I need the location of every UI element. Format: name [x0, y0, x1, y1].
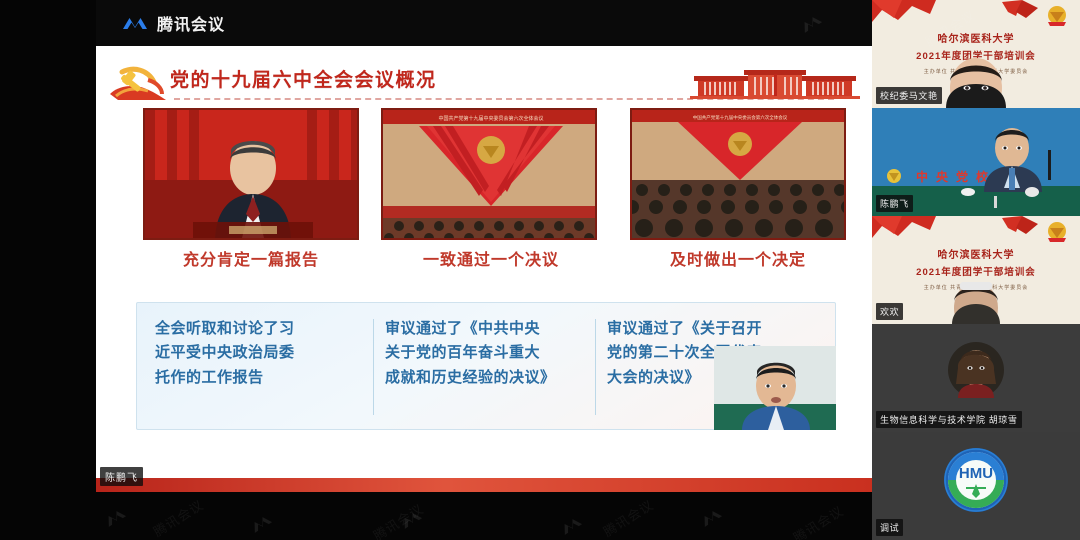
- participant-video-3: [872, 216, 1080, 324]
- participant-tile-3[interactable]: 哈尔滨医科大学 2021年度团学干部培训会 主办单位 共青团哈尔滨医科大学委员会…: [872, 216, 1080, 324]
- slide-header: 党的十九届六中全会会议概况: [96, 56, 872, 104]
- panel-line: 成就和历史经验的决议》: [385, 366, 603, 390]
- panel-line: 近平受中央政治局委: [155, 341, 373, 365]
- slide-photo-row: 中国共产党第十九届中央委员会第六次全体会议: [96, 108, 872, 246]
- presentation-slide: 党的十九届六中全会会议概况: [96, 46, 872, 492]
- svg-text:中国共产党第十九届中央委员会第六次全体会议: 中国共产党第十九届中央委员会第六次全体会议: [438, 115, 543, 122]
- participant-name-3: 欢欢: [876, 303, 903, 320]
- panel-line: 审议通过了《中共中央: [385, 317, 603, 341]
- speaker-video-overlay[interactable]: [714, 346, 836, 430]
- watermark-logo-icon: [248, 511, 275, 535]
- participant-name-2: 陈鹏飞: [876, 195, 913, 212]
- tencent-meeting-logo-icon: [122, 15, 148, 32]
- slide-caption-row: 充分肯定一篇报告 一致通过一个决议 及时做出一个决定: [96, 246, 872, 280]
- participant-rail[interactable]: 哈尔滨医科大学 2021年度团学干部培训会 主办单位 共青团哈尔滨医科大学委员会…: [872, 0, 1080, 540]
- watermark-logo-icon: [102, 505, 129, 529]
- watermark-logo-icon: [398, 507, 425, 531]
- panel-col-report: 全会听取和讨论了习 近平受中央政治局委 托作的工作报告: [155, 317, 373, 390]
- panel-line: 托作的工作报告: [155, 366, 373, 390]
- svg-text:党: 党: [956, 169, 968, 184]
- slide-title: 党的十九届六中全会会议概况: [170, 65, 437, 92]
- meeting-window: 腾讯会议 党的十九届六中全会会议概况: [0, 0, 1080, 540]
- caption-2: 一致通过一个决议: [371, 246, 611, 270]
- participant-tile-4[interactable]: 生物信息科学与技术学院 胡琼雪: [872, 324, 1080, 432]
- watermark-text: 腾讯会议: [789, 501, 847, 540]
- participant-tile-5[interactable]: HMU 调试: [872, 432, 1080, 540]
- svg-text:央: 央: [936, 169, 949, 184]
- shared-screen-nametag: 陈鹏飞: [100, 467, 143, 486]
- party-hammer-sickle-emblem-icon: [104, 60, 174, 104]
- svg-text:中国共产党第十九届中央委员会第六次全体会议: 中国共产党第十九届中央委员会第六次全体会议: [693, 114, 788, 121]
- caption-3: 及时做出一个决定: [618, 246, 858, 270]
- harbin-medical-university-logo-icon: HMU: [872, 432, 1080, 540]
- panel-line: 审议通过了《关于召开: [607, 317, 825, 341]
- watermark-text: 腾讯会议: [149, 495, 207, 540]
- shared-screen[interactable]: 党的十九届六中全会会议概况: [96, 46, 872, 492]
- photo-plenary-delegates: 中国共产党第十九届中央委员会第六次全体会议: [630, 108, 846, 240]
- watermark-logo-icon: [558, 513, 585, 537]
- great-hall-of-the-people-icon: [684, 60, 866, 102]
- watermark-text: 腾讯会议: [599, 495, 657, 540]
- participant-avatar-5: HMU: [872, 432, 1080, 540]
- photo-speaker-at-podium: [143, 108, 359, 240]
- panel-line: 关于党的百年奋斗重大: [385, 341, 603, 365]
- participant-name-4: 生物信息科学与技术学院 胡琼雪: [876, 411, 1022, 428]
- participant-name-1: 校纪委马文艳: [876, 87, 942, 104]
- shared-slide-thumbnail: 哈尔滨医科大学 2021年度团学干部培训会 主办单位 共青团哈尔滨医科大学委员会: [872, 216, 1080, 324]
- svg-text:HMU: HMU: [959, 465, 993, 482]
- participant-name-5: 调试: [876, 519, 903, 536]
- panel-col-resolution: 审议通过了《中共中央 关于党的百年奋斗重大 成就和历史经验的决议》: [385, 317, 603, 390]
- watermark-text: 腾讯会议: [369, 499, 427, 540]
- app-titlebar: 腾讯会议: [96, 0, 872, 46]
- watermark-logo-icon: [698, 505, 725, 529]
- participant-tile-2[interactable]: 中央党校 陈鹏飞: [872, 108, 1080, 216]
- caption-1: 充分肯定一篇报告: [131, 246, 371, 270]
- app-name: 腾讯会议: [157, 11, 225, 35]
- panel-divider-1: [373, 319, 374, 415]
- brand: 腾讯会议: [122, 11, 225, 35]
- photo-plenary-hall-stage: 中国共产党第十九届中央委员会第六次全体会议: [381, 108, 597, 240]
- panel-line: 全会听取和讨论了习: [155, 317, 373, 341]
- svg-text:中: 中: [916, 169, 928, 184]
- participant-tile-1[interactable]: 哈尔滨医科大学 2021年度团学干部培训会 主办单位 共青团哈尔滨医科大学委员会…: [872, 0, 1080, 108]
- slide-footer-strip: [96, 478, 872, 492]
